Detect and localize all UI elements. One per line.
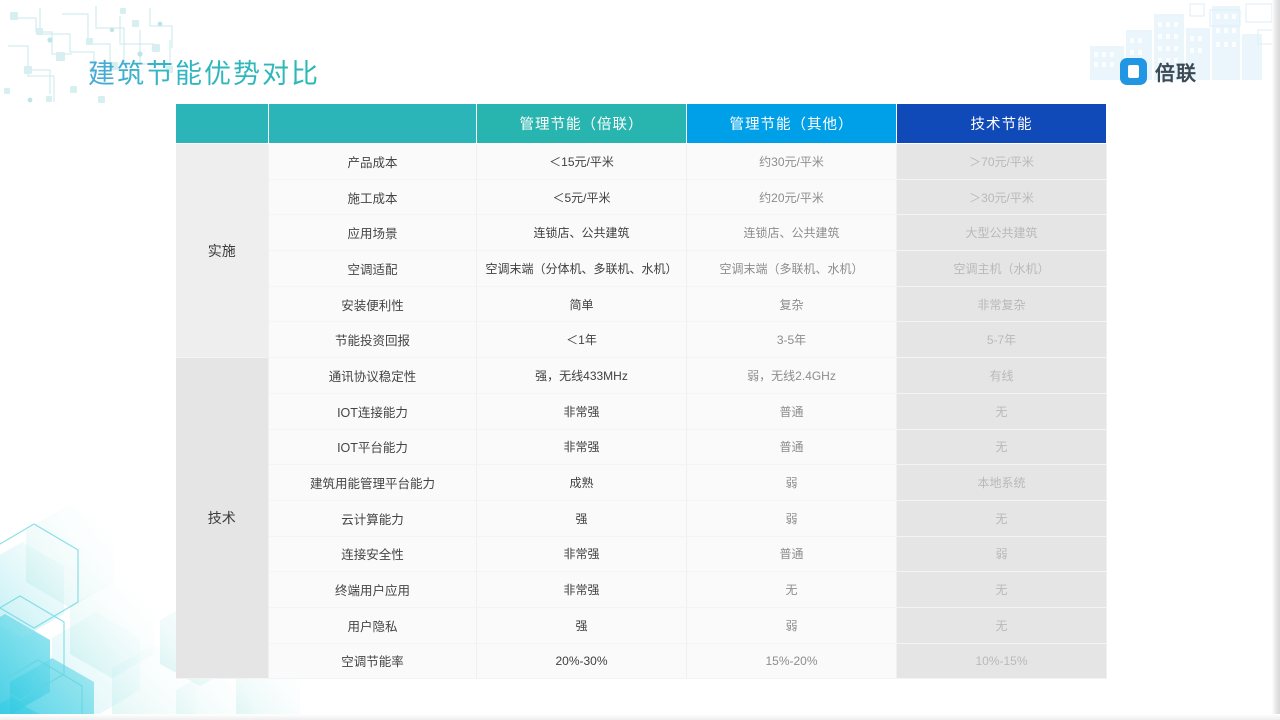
- header-cell-metric: [269, 104, 477, 144]
- page-title: 建筑节能优势对比: [88, 52, 320, 91]
- header-cell-group: [176, 104, 269, 144]
- table-row: 建筑用能管理平台能力成熟弱本地系统: [176, 465, 1107, 501]
- cell-beilian: 连锁店、公共建筑: [477, 215, 687, 251]
- table-row: IOT平台能力非常强普通无: [176, 429, 1107, 465]
- cell-others: 普通: [687, 429, 897, 465]
- table-row: 实施产品成本＜15元/平米约30元/平米＞70元/平米: [176, 144, 1107, 180]
- cell-technical: 无: [897, 393, 1107, 429]
- cell-technical: 10%-15%: [897, 643, 1107, 679]
- cell-beilian: 空调末端（分体机、多联机、水机）: [477, 251, 687, 287]
- cell-beilian: 非常强: [477, 393, 687, 429]
- table-row: 安装便利性简单复杂非常复杂: [176, 286, 1107, 322]
- table-row: 连接安全性非常强普通弱: [176, 536, 1107, 572]
- cell-technical: 无: [897, 607, 1107, 643]
- cell-beilian: 简单: [477, 286, 687, 322]
- cell-technical: 大型公共建筑: [897, 215, 1107, 251]
- cell-beilian: ＜5元/平米: [477, 179, 687, 215]
- logo-mark-icon: [1120, 58, 1147, 85]
- cell-technical: 无: [897, 429, 1107, 465]
- comparison-table: 管理节能（倍联） 管理节能（其他） 技术节能 实施产品成本＜15元/平米约30元…: [175, 103, 1107, 679]
- cell-technical: 有线: [897, 358, 1107, 394]
- cell-technical: 本地系统: [897, 465, 1107, 501]
- row-metric-label: 产品成本: [269, 144, 477, 180]
- cell-others: 复杂: [687, 286, 897, 322]
- row-metric-label: 安装便利性: [269, 286, 477, 322]
- cell-technical: 空调主机（水机）: [897, 251, 1107, 287]
- table-header-row: 管理节能（倍联） 管理节能（其他） 技术节能: [176, 104, 1107, 144]
- cell-others: 15%-20%: [687, 643, 897, 679]
- table-row: 云计算能力强弱无: [176, 500, 1107, 536]
- row-metric-label: 施工成本: [269, 179, 477, 215]
- row-metric-label: 节能投资回报: [269, 322, 477, 358]
- cell-beilian: 非常强: [477, 536, 687, 572]
- cell-beilian: 强，无线433MHz: [477, 358, 687, 394]
- cell-others: 约20元/平米: [687, 179, 897, 215]
- header-cell-others: 管理节能（其他）: [687, 104, 897, 144]
- table-row: IOT连接能力非常强普通无: [176, 393, 1107, 429]
- cell-beilian: ＜15元/平米: [477, 144, 687, 180]
- cell-others: 约30元/平米: [687, 144, 897, 180]
- page-edge-shadow: [1272, 0, 1280, 720]
- row-metric-label: 连接安全性: [269, 536, 477, 572]
- row-metric-label: 建筑用能管理平台能力: [269, 465, 477, 501]
- row-metric-label: 空调节能率: [269, 643, 477, 679]
- row-metric-label: 云计算能力: [269, 500, 477, 536]
- cell-beilian: 非常强: [477, 572, 687, 608]
- row-metric-label: IOT平台能力: [269, 429, 477, 465]
- cell-others: 弱: [687, 465, 897, 501]
- cell-technical: ＞70元/平米: [897, 144, 1107, 180]
- table-row: 空调适配空调末端（分体机、多联机、水机）空调末端（多联机、水机）空调主机（水机）: [176, 251, 1107, 287]
- table-row: 技术通讯协议稳定性强，无线433MHz弱，无线2.4GHz有线: [176, 358, 1107, 394]
- cell-beilian: 强: [477, 607, 687, 643]
- table-row: 用户隐私强弱无: [176, 607, 1107, 643]
- cell-others: 无: [687, 572, 897, 608]
- cell-others: 连锁店、公共建筑: [687, 215, 897, 251]
- cell-technical: 5-7年: [897, 322, 1107, 358]
- row-metric-label: IOT连接能力: [269, 393, 477, 429]
- table-row: 应用场景连锁店、公共建筑连锁店、公共建筑大型公共建筑: [176, 215, 1107, 251]
- cell-technical: 无: [897, 572, 1107, 608]
- cell-others: 弱: [687, 500, 897, 536]
- cell-beilian: ＜1年: [477, 322, 687, 358]
- brand-logo: 倍联: [1120, 57, 1197, 86]
- row-metric-label: 终端用户应用: [269, 572, 477, 608]
- cell-technical: ＞30元/平米: [897, 179, 1107, 215]
- cell-others: 3-5年: [687, 322, 897, 358]
- brand-name: 倍联: [1155, 57, 1197, 86]
- cell-technical: 非常复杂: [897, 286, 1107, 322]
- group-label-1: 技术: [176, 358, 269, 679]
- table-row: 空调节能率20%-30%15%-20%10%-15%: [176, 643, 1107, 679]
- row-metric-label: 应用场景: [269, 215, 477, 251]
- cell-beilian: 20%-30%: [477, 643, 687, 679]
- cell-beilian: 非常强: [477, 429, 687, 465]
- cell-beilian: 成熟: [477, 465, 687, 501]
- row-metric-label: 空调适配: [269, 251, 477, 287]
- row-metric-label: 通讯协议稳定性: [269, 358, 477, 394]
- cell-beilian: 强: [477, 500, 687, 536]
- table-row: 节能投资回报＜1年3-5年5-7年: [176, 322, 1107, 358]
- cell-technical: 无: [897, 500, 1107, 536]
- page-bottom-shadow: [0, 714, 1280, 720]
- cell-others: 弱: [687, 607, 897, 643]
- cell-others: 普通: [687, 536, 897, 572]
- header-cell-beilian: 管理节能（倍联）: [477, 104, 687, 144]
- table-row: 施工成本＜5元/平米约20元/平米＞30元/平米: [176, 179, 1107, 215]
- cell-technical: 弱: [897, 536, 1107, 572]
- cell-others: 空调末端（多联机、水机）: [687, 251, 897, 287]
- cell-others: 弱，无线2.4GHz: [687, 358, 897, 394]
- header-cell-technical: 技术节能: [897, 104, 1107, 144]
- table-body: 实施产品成本＜15元/平米约30元/平米＞70元/平米施工成本＜5元/平米约20…: [176, 144, 1107, 679]
- group-label-0: 实施: [176, 144, 269, 358]
- table-row: 终端用户应用非常强无无: [176, 572, 1107, 608]
- table-header: 管理节能（倍联） 管理节能（其他） 技术节能: [176, 104, 1107, 144]
- row-metric-label: 用户隐私: [269, 607, 477, 643]
- cell-others: 普通: [687, 393, 897, 429]
